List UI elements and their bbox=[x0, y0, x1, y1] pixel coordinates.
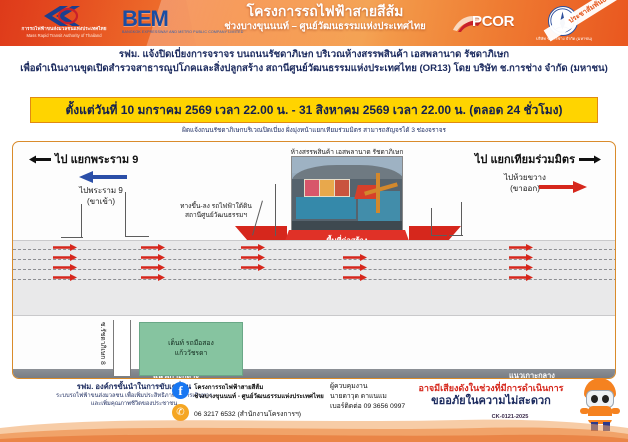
pcor-logo-text: PCOR bbox=[472, 13, 514, 30]
direction-header-left: ไป แยกพระราม 9 bbox=[29, 150, 138, 168]
eastbound-arrow-icon bbox=[241, 244, 265, 251]
apology-line-1: อาจมีเสียงดังในช่วงที่มีการดำเนินการ bbox=[396, 382, 586, 394]
apology-block: อาจมีเสียงดังในช่วงที่มีการดำเนินการ ขออ… bbox=[396, 382, 586, 408]
used-car-lot-area: เต็นท์ รถมือสอง แก้ววัชรดา bbox=[139, 322, 243, 376]
announcement-line-1: รฟม. แจ้งปิดเบี่ยงการจราจร บนถนนรัชดาภิเ… bbox=[0, 48, 628, 62]
supervisor-title: ผู้ควบคุมงาน bbox=[330, 382, 405, 392]
date-banner-note: ผิดแจ้งถนนรัชดาภิเษกบริเวณปิดเบี่ยง ฝั่ง… bbox=[0, 125, 628, 135]
eastbound-arrow-icon bbox=[343, 274, 367, 281]
leader-line bbox=[431, 208, 432, 236]
project-title-block: โครงการรถไฟฟ้าสายสีส้ม ช่วงบางขุนนนท์ – … bbox=[210, 3, 440, 33]
eastbound-arrow-icon bbox=[241, 254, 265, 261]
arrow-left-icon bbox=[29, 155, 51, 164]
traffic-diversion-map: ไป แยกพระราม 9 ไป แยกเทียมร่วมมิตร ไปพระ… bbox=[12, 141, 616, 379]
facebook-icon[interactable]: f bbox=[172, 382, 189, 399]
facebook-page-line-2[interactable]: ช่วงบางขุนนนท์ - ศูนย์วัฒนธรรมแห่งประเทศ… bbox=[194, 391, 324, 401]
project-subtitle: ช่วงบางขุนนนท์ – ศูนย์วัฒนธรรมแห่งประเทศ… bbox=[210, 20, 440, 33]
eastbound-arrow-icon bbox=[141, 274, 165, 281]
mrta-chevron-logo-icon bbox=[38, 5, 94, 27]
eastbound-arrow-icon bbox=[509, 274, 533, 281]
roadway: แนวเกาะกลาง แนวเกาะกลาง ถนนรัชดาภิเษก bbox=[13, 240, 616, 316]
eastbound-arrow-icon bbox=[141, 264, 165, 271]
eastbound-arrow-icon bbox=[509, 244, 533, 251]
station-note-line-1: ทางขึ้น-ลง รถไฟฟ้าใต้ดิน bbox=[141, 202, 291, 211]
green-box-line-1: เต็นท์ รถมือสอง bbox=[168, 339, 214, 349]
mrta-logo: การรถไฟฟ้าขนส่งมวลชนแห่งประเทศไทย Mass R… bbox=[8, 4, 120, 44]
metro-station-access-note: ทางขึ้น-ลง รถไฟฟ้าใต้ดิน สถานีศูนย์วัฒนธ… bbox=[141, 202, 291, 220]
leader-line bbox=[449, 235, 463, 236]
project-title: โครงการรถไฟฟ้าสายสีส้ม bbox=[210, 3, 440, 20]
bem-logo-subtitle: BANGKOK EXPRESSWAY AND METRO PUBLIC COMP… bbox=[122, 30, 218, 34]
mrta-name-en: Mass Rapid Transit Authority of Thailand bbox=[8, 33, 120, 39]
direction-label-right: ไป แยกเทียมร่วมมิตร bbox=[475, 150, 575, 168]
eastbound-arrow-icon bbox=[53, 254, 77, 261]
soi-label: ซ.รัชดาภิเษก 8 bbox=[95, 322, 109, 376]
date-range-text: ตั้งแต่วันที่ 10 มกราคม 2569 เวลา 22.00 … bbox=[65, 101, 562, 120]
site-supervisor-block: ผู้ควบคุมงาน นายดาวุด ดาแนแม เบอร์ติดต่อ… bbox=[330, 382, 405, 412]
eastbound-arrow-icon bbox=[509, 264, 533, 271]
supervisor-contact: เบอร์ติดต่อ 09 3656 0997 bbox=[330, 402, 405, 412]
direction-label-left: ไป แยกพระราม 9 bbox=[55, 150, 138, 168]
pcor-logo: PCOR bbox=[452, 10, 526, 36]
direction-header-right: ไป แยกเทียมร่วมมิตร bbox=[475, 150, 601, 168]
eastbound-arrow-icon bbox=[509, 254, 533, 261]
leader-line bbox=[125, 192, 126, 236]
leader-line bbox=[61, 237, 83, 238]
eastbound-arrow-icon bbox=[141, 254, 165, 261]
eastbound-arrow-icon bbox=[141, 244, 165, 251]
eastbound-arrow-icon bbox=[343, 264, 367, 271]
inbound-label-1: ไปพระราม 9 bbox=[49, 185, 153, 196]
motto-line-3: และเพิ่มคุณภาพชีวิตของประชาชน bbox=[24, 400, 244, 408]
leader-line bbox=[125, 236, 149, 237]
station-note-line-2: สถานีศูนย์วัฒนธรรมฯ bbox=[141, 211, 291, 220]
eastbound-arrow-icon bbox=[53, 244, 77, 251]
soi-ratchadaphisek-8 bbox=[113, 320, 131, 376]
apology-line-2: ขออภัยในความไม่สะดวก bbox=[396, 394, 586, 408]
page-header: การรถไฟฟ้าขนส่งมวลชนแห่งประเทศไทย Mass R… bbox=[0, 0, 628, 46]
eastbound-arrow-icon bbox=[343, 254, 367, 261]
outbound-direction-block: ไปห้วยขวาง (ขาออก) bbox=[469, 172, 581, 194]
eastbound-arrow-icon bbox=[53, 274, 77, 281]
eastbound-arrow-icon bbox=[241, 264, 265, 271]
leader-line bbox=[431, 235, 447, 236]
arrow-right-icon bbox=[579, 155, 601, 164]
inbound-label-2: (ขาเข้า) bbox=[49, 196, 153, 207]
crane-icon bbox=[376, 173, 380, 213]
mrta-name-th: การรถไฟฟ้าขนส่งมวลชนแห่งประเทศไทย bbox=[8, 26, 120, 32]
announcement-block: รฟม. แจ้งปิดเบี่ยงการจราจร บนถนนรัชดาภิเ… bbox=[0, 48, 628, 76]
inbound-blue-arrow-icon bbox=[79, 171, 127, 183]
median-label-right: แนวเกาะกลาง bbox=[509, 370, 555, 379]
outbound-red-arrow-icon bbox=[539, 181, 587, 193]
supervisor-name: นายดาวุด ดาแนแม bbox=[330, 392, 405, 402]
inbound-direction-block: ไปพระราม 9 (ขาเข้า) bbox=[49, 172, 153, 207]
eastbound-arrow-icon bbox=[53, 264, 77, 271]
leader-line bbox=[81, 204, 82, 238]
esplanade-mall-photo bbox=[291, 156, 403, 232]
leader-line bbox=[275, 184, 276, 236]
announcement-line-2: เพื่อดำเนินงานขุดเปิดสำรวจสาธารณูปโภคและ… bbox=[0, 62, 628, 76]
footer-swoosh bbox=[0, 418, 628, 442]
bem-logo: BEM BANGKOK EXPRESSWAY AND METRO PUBLIC … bbox=[122, 8, 218, 38]
leader-line bbox=[461, 202, 462, 236]
green-box-line-2: แก้ววัชรดา bbox=[175, 349, 208, 359]
bem-logo-text: BEM bbox=[122, 8, 218, 30]
date-range-banner: ตั้งแต่วันที่ 10 มกราคม 2569 เวลา 22.00 … bbox=[30, 97, 598, 123]
